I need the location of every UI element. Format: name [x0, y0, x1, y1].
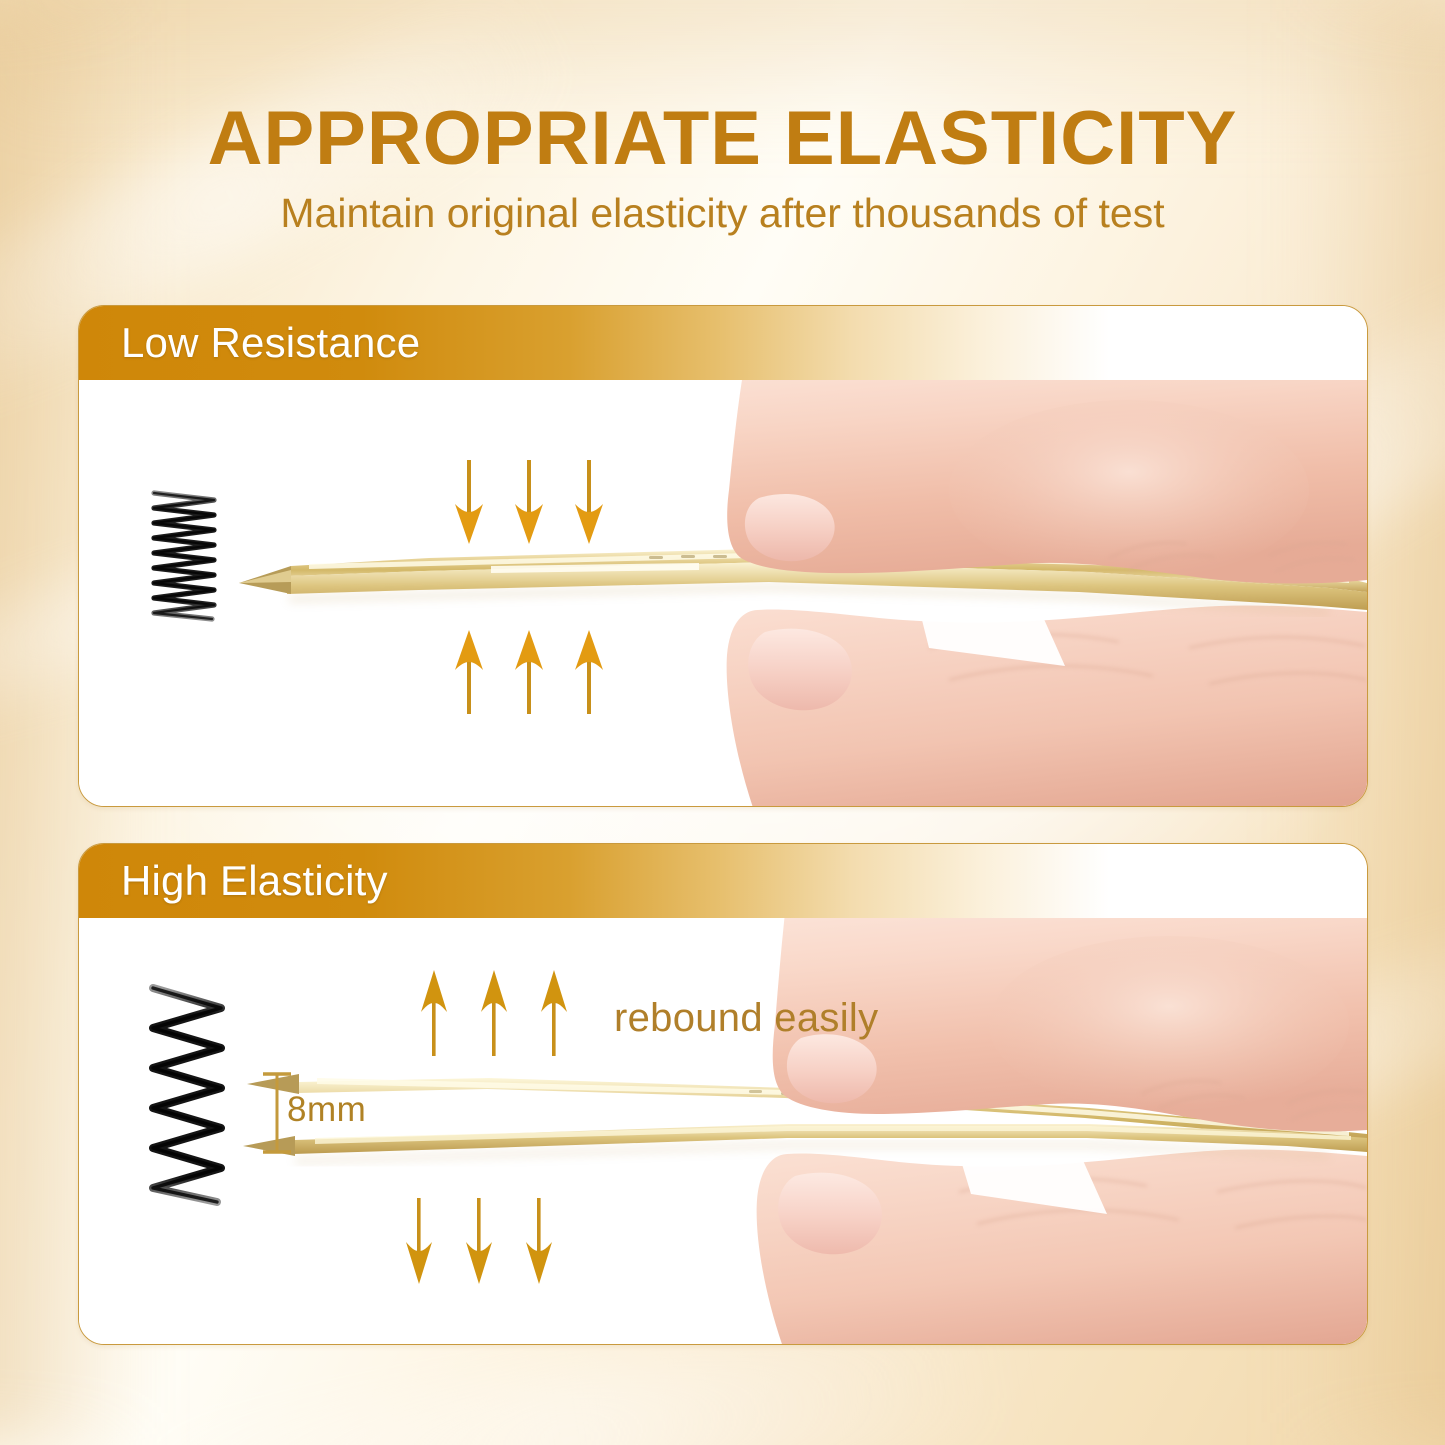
arrow-down-icon [524, 1198, 554, 1289]
arrow-down-icon [454, 460, 484, 549]
arrow-down-icon [574, 460, 604, 549]
panel-header-label: High Elasticity [121, 857, 388, 905]
arrow-up-icon [514, 630, 544, 719]
extended-spring [117, 978, 257, 1213]
index-finger [727, 380, 1367, 583]
arrow-group-up-low-resistance [454, 630, 604, 719]
arrow-group-down-high-elasticity [404, 1198, 554, 1289]
panel-header-high-elasticity: High Elasticity [79, 844, 1367, 918]
arrow-group-down-low-resistance [454, 460, 604, 549]
infographic-canvas: APPROPRIATE ELASTICITY Maintain original… [0, 0, 1445, 1445]
panel-body-low-resistance [79, 380, 1367, 806]
measurement-8mm: 8mm [257, 1068, 417, 1158]
panel-header-low-resistance: Low Resistance [79, 306, 1367, 380]
arrow-group-up-high-elasticity [419, 970, 569, 1061]
thumb [757, 1149, 1367, 1344]
panel-low-resistance: Low Resistance [78, 305, 1368, 807]
arrow-up-icon [574, 630, 604, 719]
compressed-spring [124, 485, 244, 630]
measurement-label: 8mm [287, 1090, 366, 1130]
arrow-up-icon [419, 970, 449, 1061]
panel-header-label: Low Resistance [121, 319, 420, 367]
panel-high-elasticity: High Elasticity [78, 843, 1368, 1345]
arrow-up-icon [479, 970, 509, 1061]
arrow-down-icon [514, 460, 544, 549]
page-subtitle: Maintain original elasticity after thous… [0, 190, 1445, 237]
rebound-annotation: rebound easily [614, 996, 878, 1041]
arrow-up-icon [539, 970, 569, 1061]
arrow-down-icon [404, 1198, 434, 1289]
photo-hand-closed-tweezers [229, 380, 1367, 806]
arrow-up-icon [454, 630, 484, 719]
thumb [727, 605, 1367, 806]
page-title: APPROPRIATE ELASTICITY [0, 95, 1445, 182]
panel-body-high-elasticity: 8mm [79, 918, 1367, 1344]
arrow-down-icon [464, 1198, 494, 1289]
